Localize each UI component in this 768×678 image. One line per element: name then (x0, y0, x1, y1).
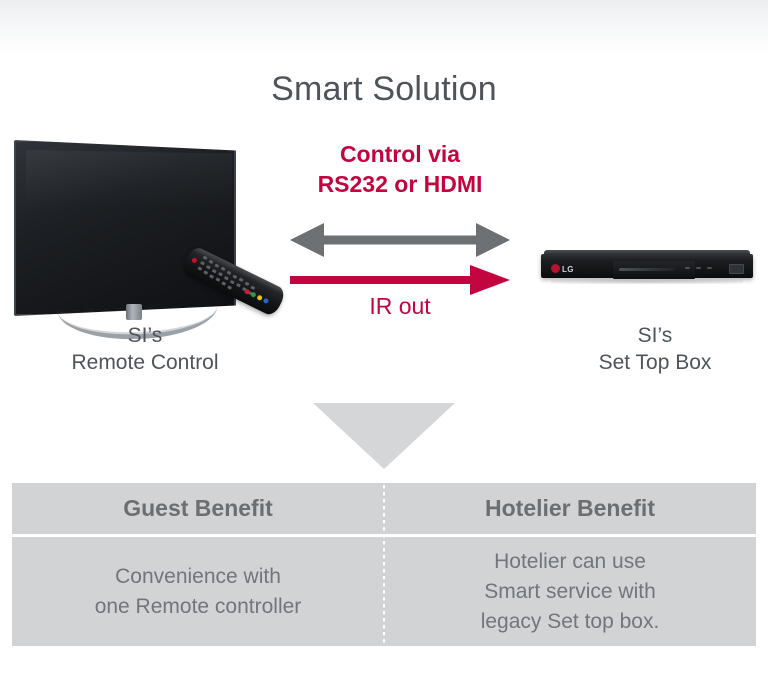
double-headed-arrow-icon (290, 222, 510, 258)
smart-solution-diagram: Smart Solution SI’s Remote Control (0, 0, 768, 678)
ir-out-label: IR out (270, 293, 530, 320)
stb-front-panel: LG (541, 254, 753, 278)
right-device-caption: SI’s Set Top Box (530, 322, 768, 376)
benefits-body-cell-hotelier: Hotelier can use Smart service with lega… (384, 537, 756, 646)
benefits-body-cell-guest: Convenience with one Remote controller (12, 537, 384, 646)
benefits-header-cell-hotelier: Hotelier Benefit (384, 483, 756, 534)
hotelier-benefit-text: Hotelier can use Smart service with lega… (471, 547, 670, 637)
benefits-header-cell-guest: Guest Benefit (12, 483, 384, 534)
tv-screen-gloss (26, 150, 232, 210)
stb-display-window (613, 261, 695, 279)
lg-logo-text: LG (562, 265, 574, 274)
lg-logo-icon: LG (551, 264, 574, 274)
left-device-caption: SI’s Remote Control (20, 322, 270, 376)
benefits-column-divider (383, 485, 385, 644)
set-top-box-icon: LG (541, 250, 753, 284)
ir-out-arrow-icon (290, 265, 510, 295)
stb-control-buttons (685, 267, 719, 271)
hotelier-benefit-header: Hotelier Benefit (485, 495, 655, 522)
benefits-table: Guest Benefit Hotelier Benefit Convenien… (12, 483, 756, 646)
stb-drop-shadow (551, 279, 743, 284)
page-title: Smart Solution (0, 70, 768, 109)
down-triangle-arrow-icon (313, 403, 455, 469)
guest-benefit-header: Guest Benefit (123, 495, 273, 522)
stb-usb-port (729, 264, 744, 274)
tv-screen-icon (14, 140, 236, 316)
control-connection-label: Control via RS232 or HDMI (270, 139, 530, 199)
guest-benefit-text: Convenience with one Remote controller (85, 562, 312, 622)
